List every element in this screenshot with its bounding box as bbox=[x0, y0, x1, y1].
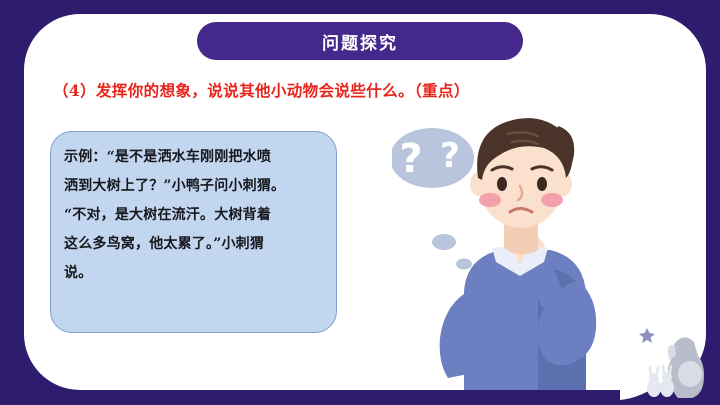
section-title-pill: 问题探究 bbox=[197, 22, 523, 60]
slide-root: 问题探究 （4）发挥你的想象，说说其他小动物会说些什么。（重点） 示例：“是不是… bbox=[0, 0, 720, 405]
answer-line: 示例：“是不是洒水车刚刚把水喷 bbox=[64, 143, 322, 172]
answer-line: 洒到大树上了？”小鸭子问小刺猬。 bbox=[64, 172, 322, 201]
answer-line: “不对，是大树在流汗。大树背着 bbox=[64, 201, 322, 230]
answer-line: 这么多鸟窝，他太累了。”小刺猬 bbox=[64, 230, 322, 259]
ear-right bbox=[554, 172, 572, 196]
answer-textbox: 示例：“是不是洒水车刚刚把水喷 洒到大树上了？”小鸭子问小刺猬。 “不对，是大树… bbox=[50, 131, 337, 333]
cheek-left bbox=[479, 193, 501, 207]
answer-line: 说。 bbox=[64, 259, 322, 288]
thinking-boy-illustration: ? ? bbox=[392, 112, 622, 390]
eye-left bbox=[497, 177, 507, 191]
question-mark-icon: ? bbox=[399, 136, 422, 182]
question-mark-icon: ? bbox=[440, 136, 460, 176]
thought-bubble-small bbox=[432, 234, 456, 250]
thought-bubble-tiny bbox=[456, 259, 472, 270]
cheek-right bbox=[541, 193, 563, 207]
eye-right bbox=[537, 177, 547, 191]
section-title-label: 问题探究 bbox=[322, 29, 398, 54]
question-heading: （4）发挥你的想象，说说其他小动物会说些什么。（重点） bbox=[53, 79, 673, 101]
mascot-group bbox=[620, 320, 720, 405]
elephant-belly bbox=[678, 361, 702, 387]
sweater-left-sleeve bbox=[440, 294, 468, 378]
